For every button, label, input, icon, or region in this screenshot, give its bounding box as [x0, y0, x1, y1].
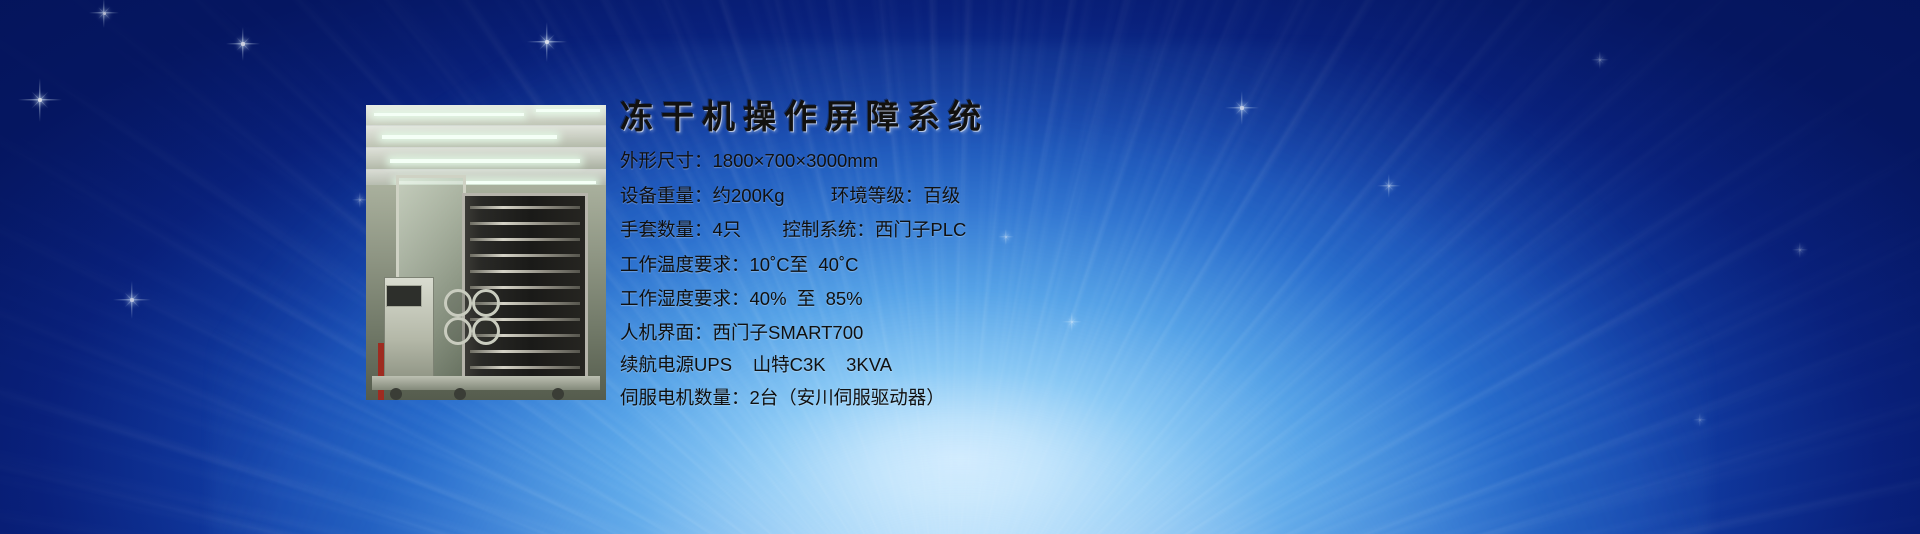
text-block: 冻干机操作屏障系统 外形尺寸：1800×700×3000mm 设备重量：约200…: [620, 100, 1520, 414]
spec-line-temperature: 工作温度要求：10˚C至 40˚C: [620, 248, 1520, 283]
hmi-panel: [386, 285, 422, 307]
spec-line-dimensions: 外形尺寸：1800×700×3000mm: [620, 144, 1520, 179]
product-photo: [366, 105, 606, 400]
glove-port-3: [444, 317, 472, 345]
red-stripe: [378, 343, 384, 400]
spec-line-hmi: 人机界面：西门子SMART700: [620, 317, 1520, 350]
caster-wheel: [454, 388, 466, 400]
spec-line-gloves-control: 手套数量：4只 控制系统：西门子PLC: [620, 213, 1520, 248]
glove-port-2: [472, 289, 500, 317]
caster-wheel: [552, 388, 564, 400]
equipment-base: [372, 376, 600, 390]
spec-line-servo: 伺服电机数量：2台（安川伺服驱动器）: [620, 382, 1520, 415]
promo-banner: 冻干机操作屏障系统 外形尺寸：1800×700×3000mm 设备重量：约200…: [0, 0, 1920, 534]
spec-line-weight-class: 设备重量：约200Kg 环境等级：百级: [620, 179, 1520, 214]
glove-port-4: [472, 317, 500, 345]
caster-wheel: [390, 388, 402, 400]
spec-line-ups: 续航电源UPS 山特C3K 3KVA: [620, 349, 1520, 382]
glove-port-1: [444, 289, 472, 317]
spec-line-humidity: 工作湿度要求：40% 至 85%: [620, 282, 1520, 317]
banner-title: 冻干机操作屏障系统: [620, 100, 1520, 144]
